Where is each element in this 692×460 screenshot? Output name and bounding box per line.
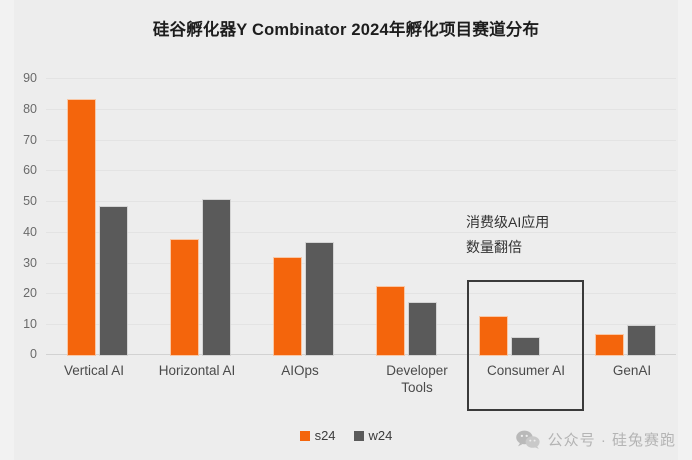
legend-label-w24: w24 (369, 428, 393, 443)
annotation-line-2: 数量翻倍 (466, 235, 549, 260)
legend-item-s24[interactable]: s24 (300, 428, 336, 443)
gridline-70: 70 (46, 140, 676, 141)
x-axis-baseline: 0 (46, 354, 676, 355)
gridline-60: 60 (46, 170, 676, 171)
legend-item-w24[interactable]: w24 (354, 428, 393, 443)
bar-w24-vertical-ai[interactable] (100, 207, 127, 355)
bar-s24-horizontal-ai[interactable] (171, 240, 198, 355)
chart-canvas: 硅谷孵化器Y Combinator 2024年孵化项目赛道分布 90 80 70… (0, 0, 692, 460)
bar-w24-aiops[interactable] (306, 243, 333, 355)
bar-s24-developer-tools[interactable] (377, 287, 404, 355)
wechat-icon (516, 430, 540, 449)
y-axis-tick-40: 40 (23, 225, 37, 239)
gridline-40: 40 (46, 232, 676, 233)
x-axis-label-genai: GenAI (572, 362, 692, 379)
legend-label-s24: s24 (315, 428, 336, 443)
bar-s24-genai[interactable] (596, 335, 623, 355)
chart-title: 硅谷孵化器Y Combinator 2024年孵化项目赛道分布 (0, 16, 692, 40)
bar-s24-aiops[interactable] (274, 258, 301, 355)
watermark: 公众号 · 硅兔赛跑 (516, 429, 676, 450)
left-margin-band (0, 0, 14, 460)
watermark-text: 公众号 · 硅兔赛跑 (548, 429, 676, 450)
right-margin-band (678, 0, 692, 460)
gridline-50: 50 (46, 201, 676, 202)
gridline-30: 30 (46, 263, 676, 264)
x-axis-label-aiops: AIOps (240, 362, 360, 379)
gridline-90: 90 (46, 78, 676, 79)
gridline-80: 80 (46, 109, 676, 110)
y-axis-tick-10: 10 (23, 317, 37, 331)
y-axis-tick-90: 90 (23, 71, 37, 85)
gridline-10: 10 (46, 324, 676, 325)
plot-area: 90 80 70 60 50 40 30 20 10 0 (46, 78, 676, 355)
bar-w24-consumer-ai[interactable] (512, 338, 539, 355)
bar-w24-developer-tools[interactable] (409, 303, 436, 355)
x-axis-label-developer-tools-line1: Developer (357, 362, 477, 379)
annotation-consumer-ai: 消费级AI应用 数量翻倍 (466, 210, 549, 260)
annotation-line-1: 消费级AI应用 (466, 210, 549, 235)
bar-w24-horizontal-ai[interactable] (203, 200, 230, 355)
x-axis-label-vertical-ai: Vertical AI (34, 362, 154, 379)
x-axis-label-developer-tools-line2: Tools (357, 379, 477, 396)
gridline-20: 20 (46, 293, 676, 294)
legend-swatch-s24-icon (300, 431, 310, 441)
bar-s24-vertical-ai[interactable] (68, 100, 95, 355)
y-axis-tick-80: 80 (23, 102, 37, 116)
bar-w24-genai[interactable] (628, 326, 655, 355)
x-axis-label-horizontal-ai: Horizontal AI (137, 362, 257, 379)
bar-s24-consumer-ai[interactable] (480, 317, 507, 355)
y-axis-tick-20: 20 (23, 286, 37, 300)
y-axis-tick-70: 70 (23, 133, 37, 147)
legend-swatch-w24-icon (354, 431, 364, 441)
y-axis-tick-0: 0 (30, 347, 37, 361)
y-axis-tick-30: 30 (23, 256, 37, 270)
y-axis-tick-60: 60 (23, 163, 37, 177)
y-axis-tick-50: 50 (23, 194, 37, 208)
x-axis-label-consumer-ai: Consumer AI (466, 362, 586, 379)
x-axis-label-developer-tools: Developer Tools (357, 362, 477, 396)
